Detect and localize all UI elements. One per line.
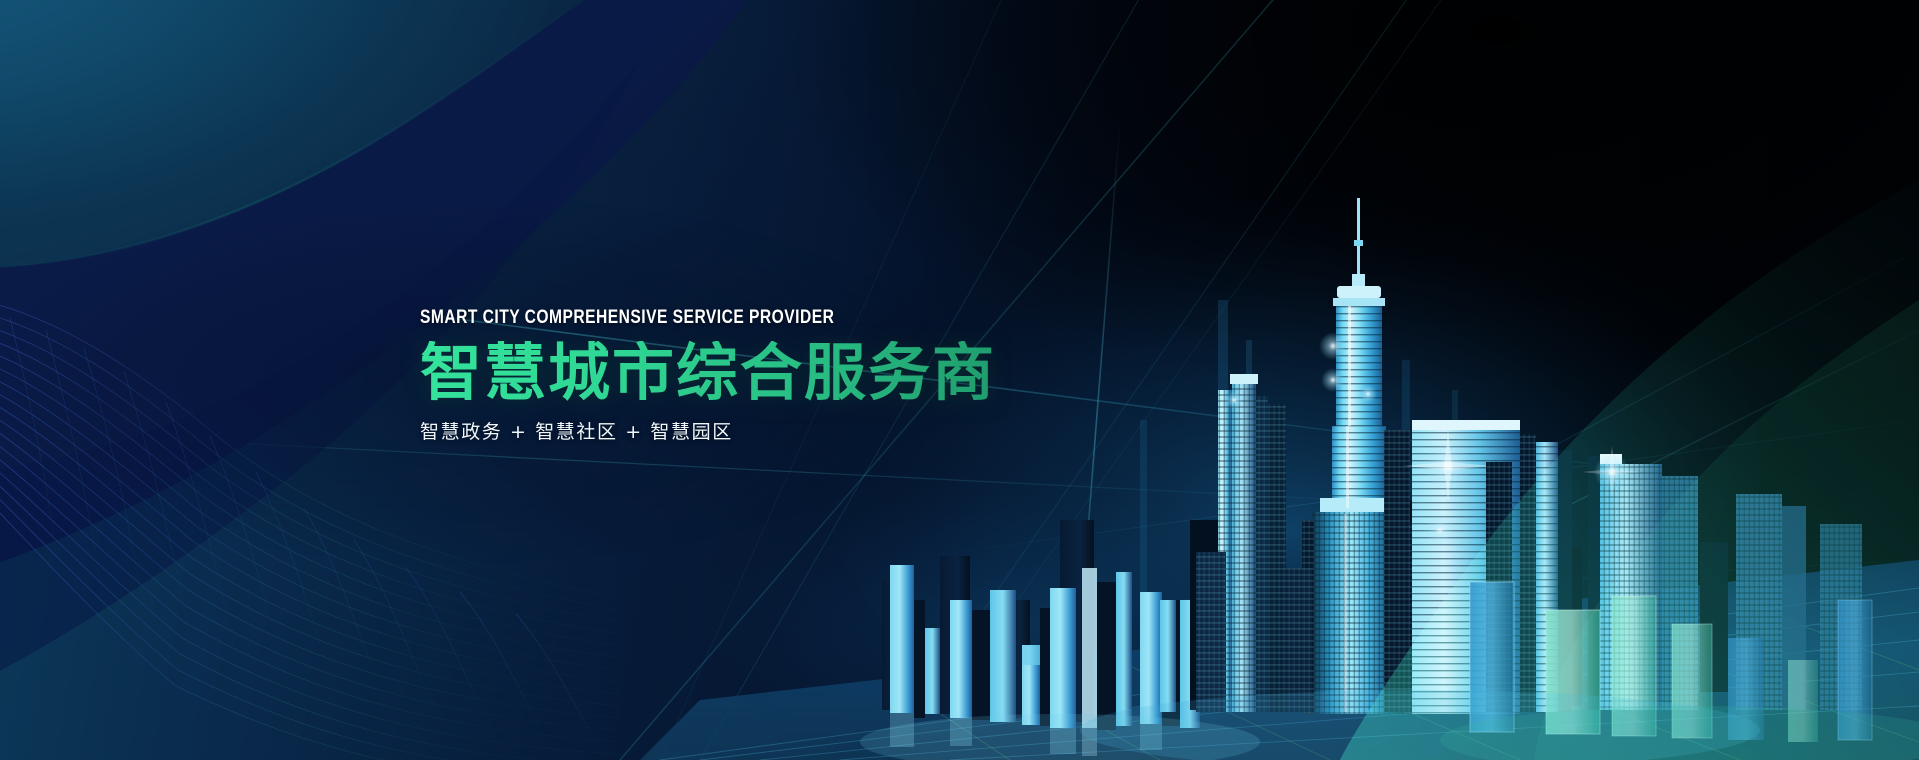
hero-text-block: SMART CITY COMPREHENSIVE SERVICE PROVIDE… (420, 308, 1240, 442)
page-title: 智慧城市综合服务商 (420, 341, 1240, 405)
banner-root: SMART CITY COMPREHENSIVE SERVICE PROVIDE… (0, 0, 1919, 760)
eyebrow-tagline: SMART CITY COMPREHENSIVE SERVICE PROVIDE… (420, 308, 1076, 328)
subtitle: 智慧政务 + 智慧社区 + 智慧园区 (420, 423, 1240, 442)
